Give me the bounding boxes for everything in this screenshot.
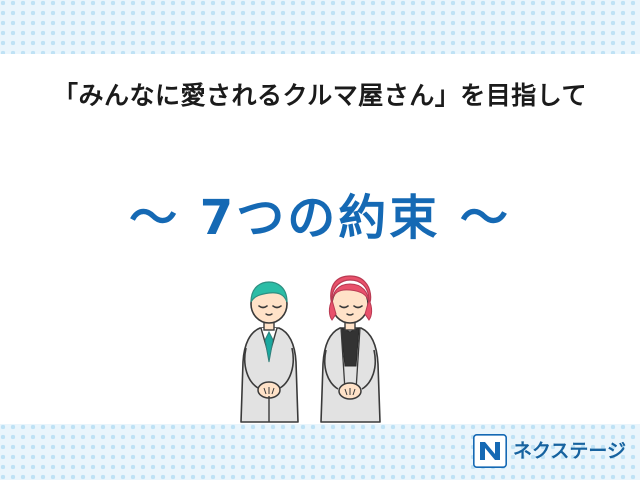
- nextage-logo: ネクステージ: [473, 434, 626, 468]
- nextage-logo-mark-icon: [473, 434, 507, 468]
- two-staff-bowing-illustration: [228, 270, 418, 430]
- slide-subheadline: 〜 7つの約束 〜: [0, 178, 640, 248]
- slide-canvas: 「みんなに愛されるクルマ屋さん」を目指して 〜 7つの約束 〜: [0, 0, 640, 480]
- nextage-logo-text: ネクステージ: [513, 442, 626, 461]
- dot-pattern-band-top: [0, 0, 640, 54]
- slide-headline: 「みんなに愛されるクルマ屋さん」を目指して: [0, 76, 640, 112]
- male-staff-figure: [241, 282, 298, 422]
- female-staff-figure: [321, 276, 380, 422]
